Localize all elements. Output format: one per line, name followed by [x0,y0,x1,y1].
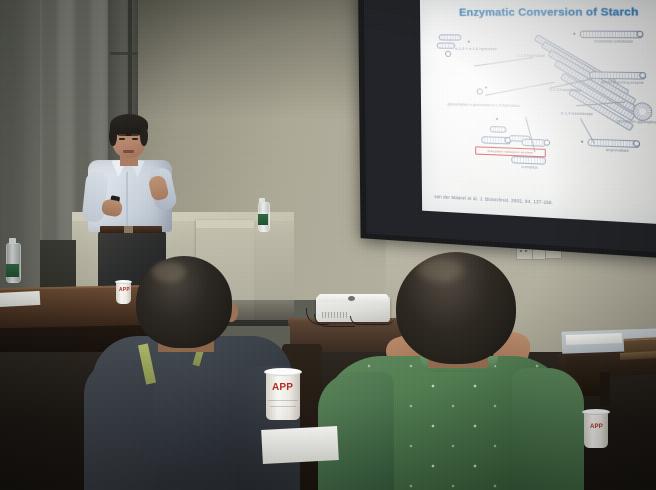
projection-screen: Enzymatic Conversion of Starch α-1,4 + α… [358,0,656,260]
paper-cup-center[interactable] [266,372,300,420]
paper-sheet-left[interactable] [0,291,40,307]
enzyme-product-label: α-amylase [507,164,553,171]
wall-socket-1-dot2 [525,250,527,252]
presenter-hair-right [140,126,148,146]
audience-right-arm-right [512,368,584,490]
projector-lens [348,296,355,301]
presenter-eyebrow-left [118,134,126,136]
branch-point [468,41,470,43]
glucose-unit [477,88,483,94]
water-bottle-table-cap [9,238,16,244]
water-bottle-table-label [6,264,19,277]
oligosaccharide [511,156,546,165]
paper-cup-center-logo: APP [272,382,293,393]
glucose-unit [445,51,451,57]
presenter-shirt-placket [126,172,128,230]
enzyme-product-label: amylomaltase [592,147,642,154]
paper-cup-left[interactable] [116,282,131,304]
starch-chain [439,34,462,40]
presenter-hair-left [109,126,117,146]
branch-point [496,118,498,120]
reaction-arrow [474,57,533,66]
presenter-mouth [123,150,134,153]
audience-left-hair-highlight [152,262,186,282]
counter-side-panel-top [196,220,254,228]
wall-socket-1-dot [520,250,522,252]
maltose-unit [490,126,507,133]
branch-point [485,86,487,88]
slide-title: Enzymatic Conversion of Starch [420,6,656,19]
linear-product-chain [580,31,644,39]
paper-cup-center-band [268,400,298,401]
paper-sheet-center[interactable] [261,426,339,464]
paper-cup-left-rim [115,280,132,284]
projector-cable-2 [314,314,355,327]
audience-right-hair-highlight [418,258,464,282]
water-bottle-counter-label [258,214,268,225]
slide-citation: van der Maarel et al. J. Biotechnol. 200… [434,194,553,205]
table-right-leg [600,372,610,406]
starch-chain [437,42,456,48]
cyclodextrin-ring [633,102,653,121]
reaction-arrow [485,82,554,96]
reaction-arrow [526,117,536,152]
presenter-belt-buckle [124,226,133,233]
enzyme-green-label: glucoamylase α-glucosidase [448,102,491,108]
branch-point [573,33,575,35]
glucose-unit [543,139,550,146]
branch-point [581,141,583,143]
paper-cup-center-band2 [270,406,296,407]
slide-content: Enzymatic Conversion of Starch α-1,4 + α… [420,0,656,225]
water-bottle-counter-cap [259,198,265,203]
paper-cup-left-logo: APP [119,287,130,293]
glucose-unit [639,72,646,79]
audience-left-shoulder [84,360,154,490]
paper-cup-right-rim [582,409,610,415]
presenter-eyebrow-right [131,134,139,136]
water-bottle-table[interactable] [6,243,21,283]
paper-cup-center-rim [264,368,302,376]
lecture-room-photo: Enzymatic Conversion of Starch α-1,4 + α… [0,0,656,490]
paper-cup-right[interactable] [584,412,608,448]
projector-cable-3 [350,316,395,325]
enzyme-product-label: isoamylase pullulanase [580,39,648,44]
paper-cup-right-logo: APP [590,424,603,430]
glucose-unit [633,140,640,147]
glucose-unit [636,31,643,38]
paper-sheet-right[interactable] [566,333,622,345]
wall-column-seam [110,52,138,55]
linear-product-chain [589,71,646,79]
